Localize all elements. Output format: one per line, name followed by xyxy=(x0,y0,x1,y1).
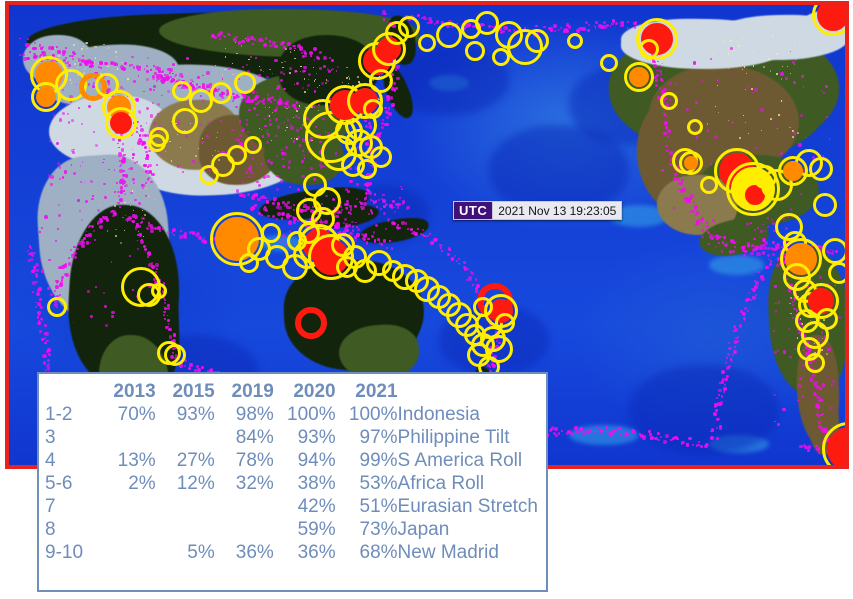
utc-label: UTC xyxy=(453,201,492,220)
cell-magnitude: 1-2 xyxy=(45,403,97,426)
cell-region-name: New Madrid xyxy=(398,541,538,564)
cell-2019: 98% xyxy=(215,403,274,426)
utc-datetime-value: 2021 Nov 13 19:23:05 xyxy=(492,201,622,220)
cell-2013 xyxy=(97,495,156,518)
quake-marker[interactable] xyxy=(287,231,307,251)
cell-2015: 93% xyxy=(156,403,215,426)
quake-marker[interactable] xyxy=(828,262,845,284)
quake-marker[interactable] xyxy=(398,16,420,38)
cell-2019 xyxy=(215,518,274,541)
quake-marker[interactable] xyxy=(172,108,198,134)
cell-magnitude: 3 xyxy=(45,426,97,449)
table-row: 859%73%Japan xyxy=(45,518,538,541)
header-row: 20132015201920202021 xyxy=(45,380,538,403)
cell-2019 xyxy=(215,495,274,518)
cell-2015 xyxy=(156,495,215,518)
quake-marker[interactable] xyxy=(369,69,393,93)
table-row: 742%51%Eurasian Stretch xyxy=(45,495,538,518)
utc-timestamp: UTC 2021 Nov 13 19:23:05 xyxy=(453,201,622,220)
cell-magnitude: 8 xyxy=(45,518,97,541)
cell-2020: 38% xyxy=(274,472,336,495)
cell-2021: 73% xyxy=(336,518,398,541)
cell-region-name: Philippine Tilt xyxy=(398,426,538,449)
cell-2015 xyxy=(156,518,215,541)
table-row: 1-270%93%98%100%100%Indonesia xyxy=(45,403,538,426)
cell-2021: 99% xyxy=(336,449,398,472)
cell-2015 xyxy=(156,426,215,449)
header-year-2013: 2013 xyxy=(97,380,156,403)
cell-2019: 36% xyxy=(215,541,274,564)
quake-marker[interactable] xyxy=(492,48,510,66)
quake-marker[interactable] xyxy=(110,112,132,134)
cell-2020: 94% xyxy=(274,449,336,472)
quake-marker[interactable] xyxy=(629,67,649,87)
cell-region-name: Indonesia xyxy=(398,403,538,426)
quake-marker[interactable] xyxy=(36,87,56,107)
cell-region-name: Japan xyxy=(398,518,538,541)
table-row: 413%27%78%94%99%S America Roll xyxy=(45,449,538,472)
cell-2020: 42% xyxy=(274,495,336,518)
quake-marker[interactable] xyxy=(370,146,392,168)
quake-marker[interactable] xyxy=(465,41,485,61)
cell-region-name: Africa Roll xyxy=(398,472,538,495)
cell-2020: 36% xyxy=(274,541,336,564)
quake-marker[interactable] xyxy=(783,161,803,181)
cell-2020: 59% xyxy=(274,518,336,541)
cell-2013: 2% xyxy=(97,472,156,495)
quake-marker[interactable] xyxy=(164,344,186,366)
quake-marker[interactable] xyxy=(809,157,833,181)
cell-magnitude: 4 xyxy=(45,449,97,472)
table-row: 384%93%97%Philippine Tilt xyxy=(45,426,538,449)
quake-marker[interactable] xyxy=(639,39,659,59)
header-year-2019: 2019 xyxy=(215,380,274,403)
cell-2013 xyxy=(97,541,156,564)
header-region xyxy=(398,380,538,403)
quake-marker[interactable] xyxy=(148,134,166,152)
quake-marker[interactable] xyxy=(567,33,583,49)
quake-marker[interactable] xyxy=(234,72,256,94)
quake-marker[interactable] xyxy=(295,307,327,339)
cell-2015: 27% xyxy=(156,449,215,472)
cell-2013: 70% xyxy=(97,403,156,426)
cell-magnitude: 7 xyxy=(45,495,97,518)
cell-2020: 93% xyxy=(274,426,336,449)
header-year-2020: 2020 xyxy=(274,380,336,403)
quake-marker[interactable] xyxy=(687,119,703,135)
quake-marker[interactable] xyxy=(363,99,383,119)
cell-2015: 12% xyxy=(156,472,215,495)
cell-magnitude: 5-6 xyxy=(45,472,97,495)
cell-2021: 97% xyxy=(336,426,398,449)
quake-marker[interactable] xyxy=(137,283,161,307)
table-body: 1-270%93%98%100%100%Indonesia384%93%97%P… xyxy=(45,403,538,564)
quake-marker[interactable] xyxy=(239,253,259,273)
quake-marker[interactable] xyxy=(660,92,678,110)
quake-marker[interactable] xyxy=(172,81,192,101)
cell-2013 xyxy=(97,426,156,449)
cell-2019: 32% xyxy=(215,472,274,495)
quake-marker[interactable] xyxy=(525,29,549,53)
header-year-2021: 2021 xyxy=(336,380,398,403)
cell-2021: 51% xyxy=(336,495,398,518)
quake-marker[interactable] xyxy=(684,156,698,170)
cell-2021: 100% xyxy=(336,403,398,426)
quake-marker[interactable] xyxy=(436,22,462,48)
cell-2019: 84% xyxy=(215,426,274,449)
quake-marker[interactable] xyxy=(473,297,493,317)
cell-2013: 13% xyxy=(97,449,156,472)
cell-2019: 78% xyxy=(215,449,274,472)
table-header: 20132015201920202021 xyxy=(45,380,538,403)
quake-marker[interactable] xyxy=(261,223,281,243)
statistics-table: 20132015201920202021 1-270%93%98%100%100… xyxy=(45,380,538,564)
table-row: 9-105%36%36%68%New Madrid xyxy=(45,541,538,564)
cell-2021: 68% xyxy=(336,541,398,564)
cell-2021: 53% xyxy=(336,472,398,495)
quake-marker[interactable] xyxy=(813,193,837,217)
header-year-2015: 2015 xyxy=(156,380,215,403)
quake-marker[interactable] xyxy=(418,34,436,52)
quake-marker[interactable] xyxy=(244,136,262,154)
cell-magnitude: 9-10 xyxy=(45,541,97,564)
quake-marker[interactable] xyxy=(495,313,515,333)
quake-marker[interactable] xyxy=(822,238,845,264)
cell-2020: 100% xyxy=(274,403,336,426)
cell-region-name: Eurasian Stretch xyxy=(398,495,538,518)
statistics-panel: 20132015201920202021 1-270%93%98%100%100… xyxy=(37,372,548,592)
header-magnitude xyxy=(45,380,97,403)
cell-region-name: S America Roll xyxy=(398,449,538,472)
table-row: 5-62%12%32%38%53%Africa Roll xyxy=(45,472,538,495)
quake-marker[interactable] xyxy=(210,82,232,104)
cell-2015: 5% xyxy=(156,541,215,564)
quake-marker[interactable] xyxy=(816,308,838,330)
quake-marker[interactable] xyxy=(600,54,618,72)
cell-2013 xyxy=(97,518,156,541)
quake-marker[interactable] xyxy=(805,353,825,373)
quake-marker[interactable] xyxy=(47,297,67,317)
